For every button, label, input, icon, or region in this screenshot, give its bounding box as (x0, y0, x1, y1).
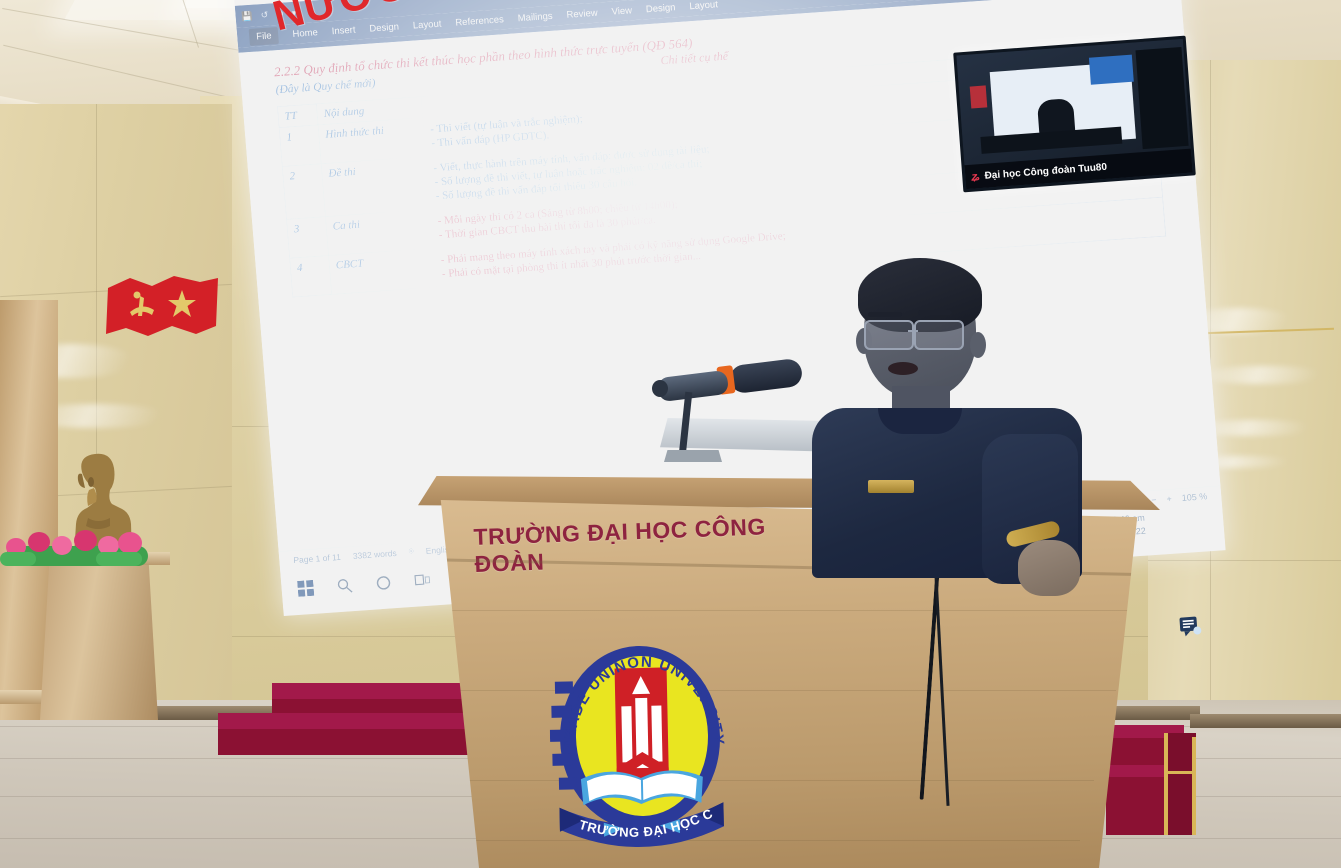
speaker-name-badge (868, 480, 914, 493)
video-blue-panel (1089, 55, 1134, 85)
flower-arrangement (0, 524, 150, 568)
university-emblem: TRADE UNINON UNIVERSITY TRƯỜNG ĐẠI HỌC C… (548, 616, 733, 858)
cell-tt: 2 (282, 164, 325, 220)
cell-noidung: Đề thi (321, 156, 430, 216)
speaker-ear (970, 332, 986, 358)
tab-file[interactable]: File (249, 26, 280, 45)
proofing-icon[interactable]: ⌾ (408, 546, 414, 557)
presentation-room-photo: NƯỚC CỘNG HÒA XÃ HỘI Bạn đang chia sẻ mà… (0, 0, 1341, 868)
flower-petal (28, 532, 50, 552)
podium-wood-grain (450, 610, 1130, 611)
zoom-logo-icon: ʑ (971, 169, 980, 184)
word-count-label: 3382 words (352, 547, 397, 560)
zoom-in-button[interactable]: + (1166, 493, 1172, 503)
cell-tt: 4 (290, 255, 332, 297)
video-red-flag (970, 86, 987, 109)
microphone (652, 362, 802, 458)
page-count-label: Page 1 of 11 (293, 551, 341, 564)
document-detail-label: Chi tiết cụ thể (660, 49, 729, 69)
communist-party-flag (104, 272, 222, 346)
flower-petal (52, 536, 72, 555)
wall-tile-seam (1148, 560, 1341, 561)
speaker-eyeglasses (864, 320, 914, 350)
step-gold-trim (1166, 771, 1194, 774)
microphone-stand-base (664, 450, 722, 462)
speaker-person (806, 258, 1082, 568)
flower-greenery (96, 552, 142, 566)
wall-sheen (1200, 366, 1328, 384)
cell-noidung: CBCT (329, 248, 437, 294)
cell-tt: 1 (279, 125, 321, 167)
comments-notification-icon[interactable] (1177, 613, 1203, 639)
speaker-eyebrow (868, 312, 902, 317)
microphone-head (729, 358, 804, 395)
video-side-panel (1136, 47, 1189, 149)
flower-petal (74, 530, 97, 551)
podium-institution-label: TRƯỜNG ĐẠI HỌC CÔNG ĐOÀN (473, 512, 805, 578)
step-gold-trim (1164, 733, 1168, 835)
video-participant-name: Đại học Công đoàn Tuu80 (984, 161, 1107, 181)
speaker-hand (1018, 540, 1080, 596)
speaker-eyeglasses (914, 320, 964, 350)
cell-tt: 3 (287, 217, 329, 259)
speaker-eyebrow (918, 310, 952, 315)
microphone-end-cap (652, 380, 668, 397)
flower-greenery (0, 552, 36, 566)
undo-icon[interactable]: ↺ (260, 9, 268, 20)
baseboard (1190, 714, 1341, 728)
speaker-mouth (888, 362, 918, 375)
cortana-icon[interactable] (375, 574, 393, 592)
windows-start-icon[interactable] (297, 579, 315, 597)
save-icon[interactable]: 💾 (241, 10, 253, 22)
video-call-thumbnail[interactable]: ʑ Đại học Công đoàn Tuu80 (953, 36, 1196, 193)
speaker-collar (878, 408, 962, 434)
bust-pedestal (40, 560, 158, 720)
microphone-stand-stem (679, 392, 693, 456)
search-icon[interactable] (336, 577, 354, 595)
flower-petal (118, 532, 142, 554)
glasses-bridge (908, 330, 918, 332)
zoom-level-label[interactable]: 105 % (1181, 491, 1207, 503)
step-gold-trim (1192, 737, 1196, 835)
